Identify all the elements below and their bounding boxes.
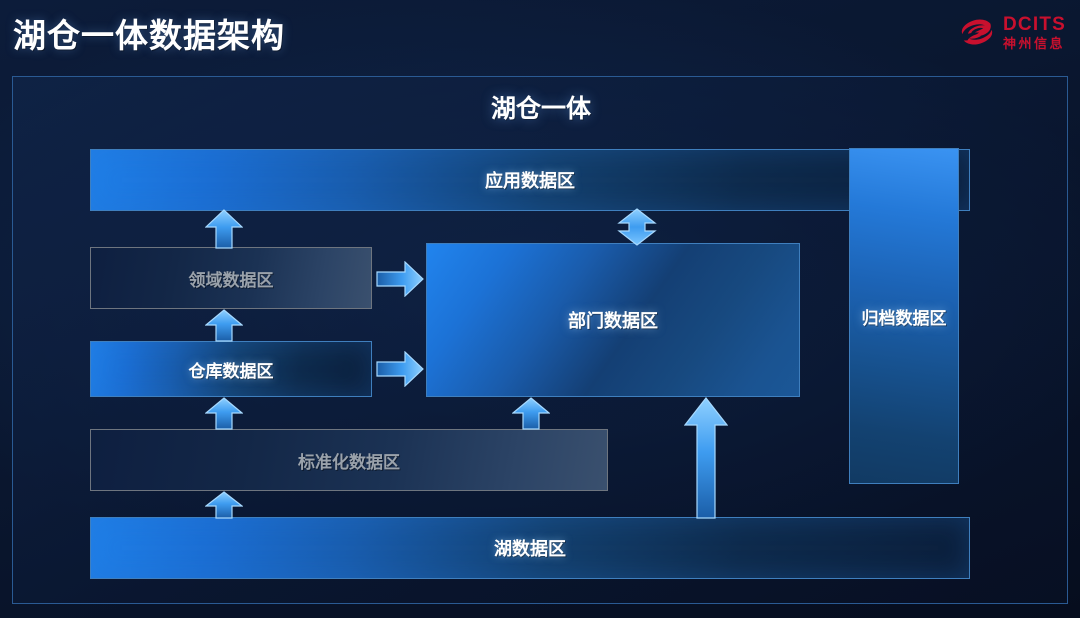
box-standard-data-zone-label: 标准化数据区 [298, 448, 400, 473]
arrow-lake-to-dept-icon [684, 397, 728, 519]
box-archive-data-zone-label: 归档数据区 [862, 304, 947, 329]
box-department-data-zone[interactable]: 部门数据区 [426, 243, 800, 397]
box-domain-data-zone-label: 领域数据区 [189, 266, 274, 291]
panel-title: 湖仓一体 [13, 89, 1069, 125]
box-archive-data-zone[interactable]: 归档数据区 [849, 148, 959, 484]
arrow-domain-to-app-icon [205, 209, 243, 249]
arrow-domain-to-dept-icon [376, 261, 424, 297]
box-department-data-zone-label: 部门数据区 [568, 307, 658, 333]
logo-text-cn: 神州信息 [1003, 37, 1066, 50]
architecture-panel: 湖仓一体 应用数据区 领域数据区 仓库数据区 标准化数据区 湖数据区 部门数据区… [12, 76, 1068, 604]
box-app-data-zone[interactable]: 应用数据区 [90, 149, 970, 211]
brand-logo: DCITS 神州信息 [958, 10, 1066, 54]
swirl-logo-icon [958, 13, 996, 51]
box-domain-data-zone[interactable]: 领域数据区 [90, 247, 372, 309]
box-lake-data-zone-label: 湖数据区 [494, 535, 566, 561]
arrow-standard-to-warehouse-icon [205, 397, 243, 430]
logo-text-en: DCITS [1003, 15, 1066, 34]
box-standard-data-zone[interactable]: 标准化数据区 [90, 429, 608, 491]
box-lake-data-zone[interactable]: 湖数据区 [90, 517, 970, 579]
arrow-warehouse-to-domain-icon [205, 309, 243, 342]
box-warehouse-data-zone[interactable]: 仓库数据区 [90, 341, 372, 397]
arrow-dept-to-app-bidirectional-icon [617, 208, 657, 246]
page-title: 湖仓一体数据架构 [13, 9, 285, 57]
arrow-warehouse-to-dept-icon [376, 351, 424, 387]
box-app-data-zone-label: 应用数据区 [485, 167, 575, 193]
arrow-lake-to-standard-icon [205, 491, 243, 519]
arrow-standard-to-dept-icon [512, 397, 550, 430]
box-warehouse-data-zone-label: 仓库数据区 [189, 357, 274, 382]
slide-header: 湖仓一体数据架构 DCITS 神州信息 [0, 0, 1080, 66]
